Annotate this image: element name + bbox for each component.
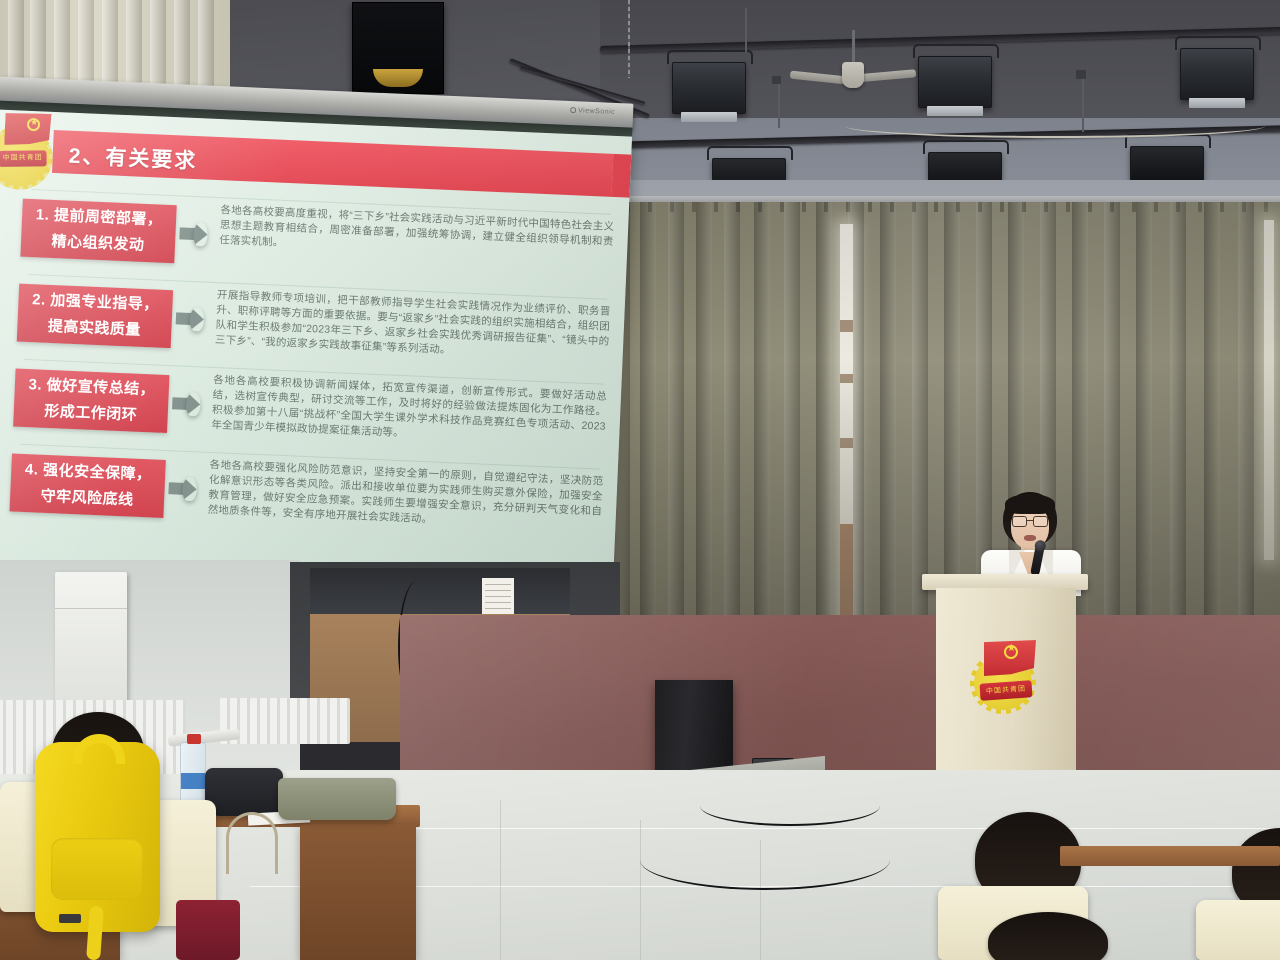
- item-3-heading-line1: 做好宣传总结，: [46, 377, 155, 399]
- emblem-ribbon: 中国共青团: [0, 150, 47, 166]
- eyeglasses-icon: [1012, 516, 1048, 527]
- floor-cable-2: [700, 786, 880, 826]
- yellow-backpack: [35, 742, 160, 932]
- item-1-number: 1.: [35, 206, 49, 224]
- slide-title-bar-tail: [611, 154, 631, 198]
- tile-seam-v: [640, 820, 641, 960]
- hanging-chain: [628, 0, 630, 78]
- item-2-heading-line2: 提高实践质量: [48, 318, 142, 339]
- brand-text: ViewSonic: [578, 107, 615, 116]
- presenter-mouth: [1024, 535, 1036, 541]
- ceiling-wire-2: [778, 78, 780, 128]
- item-4-body: 各地各高校要强化风险防范意识，坚持安全第一的原则，自觉遵纪守法，坚决防范化解意识…: [207, 458, 603, 535]
- item-1-heading-line1: 提前周密部署，: [54, 207, 163, 229]
- ceiling-fixture-1: [772, 76, 781, 84]
- lecture-hall-photo: ViewSonic 中国共青团 2、有关要求: [0, 0, 1280, 960]
- item-3-tag: 3. 做好宣传总结， 形成工作闭环: [13, 369, 169, 434]
- podium-league-emblem-icon: 中国共青团: [968, 640, 1044, 714]
- item-2-number: 2.: [32, 291, 46, 309]
- canvas-tote-bag: [278, 778, 396, 820]
- item-2-body: 开展指导教师专项培训，把干部教师指导学生社会实践情况作为业绩评价、职务晋升、职称…: [215, 288, 611, 365]
- partition-glass: [310, 568, 570, 616]
- screen-brand-label: ViewSonic: [570, 107, 615, 116]
- ceiling-fan-rod: [852, 30, 855, 66]
- podium-star-icon: [1004, 645, 1018, 659]
- stage-light-3: [1180, 48, 1254, 100]
- bottle-cap: [187, 734, 201, 744]
- floor-cable: [640, 830, 890, 890]
- cabinet-seam: [55, 608, 127, 609]
- desk-top-far-right: [1060, 846, 1280, 866]
- podium-emblem-ribbon: 中国共青团: [979, 680, 1032, 701]
- speaker-grille-cap: [373, 69, 423, 87]
- ceiling-wire-1: [745, 8, 747, 52]
- desk-right: [300, 824, 416, 960]
- star-icon: [27, 118, 41, 132]
- item-3-body: 各地各高校要积极协调新闻媒体，拓宽宣传渠道，创新宣传形式。要做好活动总结，选树宣…: [211, 373, 607, 450]
- item-2-tag: 2. 加强专业指导， 提高实践质量: [17, 284, 173, 349]
- seat-cushion-left: [176, 900, 240, 960]
- item-4-number: 4.: [25, 461, 39, 479]
- item-4-heading-line1: 强化安全保障，: [43, 462, 152, 484]
- item-4-tag: 4. 强化安全保障， 守牢风险底线: [9, 453, 165, 518]
- bottle-label: [181, 773, 205, 789]
- seat-back-right-2: [1196, 900, 1280, 960]
- ceiling-speaker: [352, 2, 444, 94]
- presentation-slide: 中国共青团 2、有关要求 1. 提前周密部署， 精心组织发动: [0, 109, 632, 601]
- slide-title: 2、有关要求: [68, 140, 198, 175]
- ceiling-fan-hub: [842, 62, 864, 88]
- backpack-brand-label: [59, 914, 81, 923]
- white-cabinet: [55, 572, 127, 712]
- backpack-front-pocket: [51, 838, 143, 900]
- dark-handbag: [205, 768, 283, 816]
- slide-title-bar: 2、有关要求: [52, 130, 613, 197]
- projector-screen-assembly: ViewSonic 中国共青团 2、有关要求: [0, 78, 625, 605]
- tile-seam-v: [500, 800, 501, 960]
- item-1-heading-line2: 精心组织发动: [51, 233, 145, 254]
- item-3-number: 3.: [28, 376, 42, 394]
- ceiling-fixture-2: [1076, 70, 1086, 79]
- slide-items-list: 1. 提前周密部署， 精心组织发动 各地各高校要高度重视，将“三下乡”社会实践活…: [0, 187, 629, 554]
- brand-mark-icon: [570, 107, 576, 113]
- item-2-heading-line1: 加强专业指导，: [50, 292, 159, 314]
- presenter-hair-front: [1005, 494, 1055, 514]
- tile-seam: [300, 828, 1280, 829]
- item-4-heading-line2: 守牢风险底线: [40, 488, 134, 509]
- tote-bag-strap: [226, 812, 278, 874]
- projection-screen: 中国共青团 2、有关要求 1. 提前周密部署， 精心组织发动: [0, 109, 632, 601]
- item-1-tag: 1. 提前周密部署， 精心组织发动: [20, 199, 176, 264]
- stage-light-1: [672, 62, 746, 114]
- item-3-heading-line2: 形成工作闭环: [44, 403, 138, 424]
- ceiling-cable-run: [845, 114, 1265, 138]
- stage-light-2: [918, 56, 992, 108]
